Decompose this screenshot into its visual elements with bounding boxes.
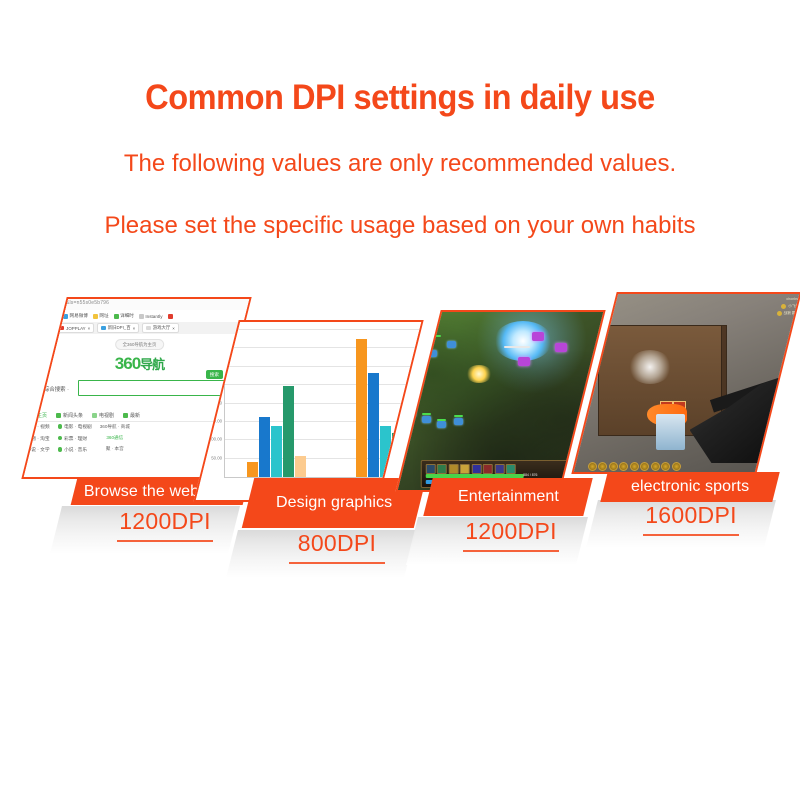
browser-url-text: hao.360.cn/?src=lm&ls=n55s0e5b796: [21, 300, 109, 306]
nav-tab[interactable]: 最新: [123, 412, 140, 419]
spell-effect-icon: [494, 321, 552, 361]
panel-design-frame: 400.00 350.00 300.00 250.00 200.00 150.0…: [193, 320, 423, 502]
fps-hud: 30/90: [588, 462, 800, 471]
fps-scene: chonbst 小飞侠 战狼 霸王 100: [571, 292, 800, 474]
bar: [283, 386, 294, 477]
weapon-slot-icon[interactable]: [651, 462, 660, 471]
fps-game-screenshot: chonbst 小飞侠 战狼 霸王 100: [571, 292, 800, 474]
link-item[interactable]: 小说 · 文学: [21, 447, 49, 453]
character-body: [656, 414, 685, 450]
site-logo: 360导航: [115, 354, 164, 374]
item-slot-icon: [425, 464, 435, 474]
item-slot-icon: [494, 464, 504, 474]
poster-root: Common DPI settings in daily use The fol…: [0, 0, 800, 800]
bookmark-item[interactable]: 网易微博: [63, 313, 88, 319]
weapon-slot-icon[interactable]: [630, 462, 639, 471]
nav-tab[interactable]: 新闻头条: [56, 412, 83, 419]
weapon-slot-icon[interactable]: [672, 462, 681, 471]
set-homepage-pill[interactable]: 全360导航为主页: [115, 339, 165, 350]
panel-esports-label[interactable]: electronic sports: [600, 472, 779, 502]
bookmark-item[interactable]: 网址: [93, 313, 109, 319]
panel-entertainment-label[interactable]: Entertainment: [423, 478, 592, 516]
link-item[interactable]: 电影 · 电视剧: [58, 424, 92, 430]
bar: [259, 417, 270, 477]
panel-design-dpi: 800DPI: [272, 530, 402, 564]
y-tick-label: 50.00: [211, 455, 222, 460]
weapon-slot-icon[interactable]: [609, 462, 618, 471]
kill-feed-row: chonbst: [698, 296, 800, 303]
promo-link[interactable]: 聚 · 本宫: [106, 446, 124, 452]
weapon-slot-icon[interactable]: [598, 462, 607, 471]
weapon-slot-icon[interactable]: [619, 462, 628, 471]
kill-feed-row: 小飞侠: [698, 303, 800, 310]
kill-feed-row: 战狼 霸王: [698, 310, 800, 317]
item-slot-icon: [483, 464, 493, 474]
bar: [271, 426, 282, 477]
link-item[interactable]: 彩票 · 理财: [58, 436, 92, 442]
weapon-slot-icon[interactable]: [588, 462, 597, 471]
bookmark-item[interactable]: 详细时: [114, 313, 134, 319]
link-item[interactable]: 新闻 · 视频: [21, 424, 49, 430]
bookmark-item[interactable]: 新闻: [21, 313, 32, 319]
panel-esports-frame: chonbst 小飞侠 战狼 霸王 100: [571, 292, 800, 474]
item-slot-icon: [460, 464, 470, 474]
bar: [380, 426, 391, 477]
search-label: 综合搜索 ·: [44, 385, 69, 393]
browser-tab[interactable]: 游戏大厅 ×: [142, 323, 179, 334]
panel-band: hao.360.cn/?src=lm&ls=n55s0e5b796 新闻 开心网…: [0, 0, 800, 800]
promo-column: 360导航 · 商城 360通信 聚 · 本宫: [100, 424, 130, 454]
item-slot-icon: [448, 464, 458, 474]
bookmark-overflow-icon[interactable]: [168, 314, 173, 319]
bar: [368, 373, 379, 477]
link-item[interactable]: 小说 · 音乐: [58, 447, 92, 453]
bar: [356, 339, 367, 477]
link-column: 新闻 · 视频 购物 · 淘宝 小说 · 文学: [21, 424, 49, 454]
bar: [247, 462, 258, 477]
bar: [295, 456, 306, 477]
weapon-slot-icon[interactable]: [640, 462, 649, 471]
nav-tab[interactable]: 我的主页: [21, 412, 47, 419]
promo-title: 360导航 · 商城: [100, 424, 130, 430]
link-item[interactable]: 购物 · 淘宝: [21, 436, 49, 442]
panel-browse[interactable]: hao.360.cn/?src=lm&ls=n55s0e5b796 新闻 开心网…: [44, 297, 229, 479]
panel-entertainment[interactable]: 100: [418, 310, 583, 492]
kill-feed: chonbst 小飞侠 战狼 霸王: [698, 296, 800, 316]
panel-browse-dpi: 1200DPI: [100, 508, 230, 542]
weapon-slot-icon[interactable]: [661, 462, 670, 471]
panel-entertainment-dpi: 1200DPI: [446, 518, 576, 552]
item-slot-icon: [506, 464, 516, 474]
panel-design-clip: 400.00 350.00 300.00 250.00 200.00 150.0…: [193, 320, 423, 502]
y-tick-label: 100.00: [209, 437, 222, 442]
explosion-icon: [466, 365, 492, 383]
link-column: 电影 · 电视剧 彩票 · 理财 小说 · 音乐: [58, 424, 92, 454]
bookmark-item[interactable]: 开心网: [38, 313, 58, 319]
chart-plot-area: 400.00 350.00 300.00 250.00 200.00 150.0…: [224, 330, 424, 478]
minion-group: [405, 386, 499, 433]
promo-link[interactable]: 360通信: [106, 435, 123, 441]
item-slot-icon: [437, 464, 447, 474]
item-slots[interactable]: [425, 464, 516, 474]
panel-design[interactable]: 400.00 350.00 300.00 250.00 200.00 150.0…: [216, 320, 401, 502]
browser-tab[interactable]: 新闻入门 ×: [21, 323, 52, 334]
panel-esports-dpi: 1600DPI: [626, 502, 756, 536]
bar-group: 项目一: [225, 330, 328, 477]
chart-bar-groups: 项目一 项目二: [225, 330, 424, 477]
browser-tab[interactable]: 新旧DPI_百 ×: [97, 323, 139, 334]
nav-tab[interactable]: 电视剧: [92, 412, 114, 419]
health-text: 584 / 876: [523, 473, 537, 477]
chart-screenshot: 400.00 350.00 300.00 250.00 200.00 150.0…: [193, 320, 423, 502]
panel-esports[interactable]: chonbst 小飞侠 战狼 霸王 100: [594, 292, 779, 474]
bar-chart: 400.00 350.00 300.00 250.00 200.00 150.0…: [193, 320, 423, 502]
item-slot-icon: [471, 464, 481, 474]
browser-url-bar: hao.360.cn/?src=lm&ls=n55s0e5b796: [21, 297, 251, 311]
bookmark-item[interactable]: Instantly: [139, 314, 163, 319]
ammo-counter: 30/90: [793, 464, 800, 469]
panel-esports-clip: chonbst 小飞侠 战狼 霸王 100: [571, 292, 800, 474]
browser-tab[interactable]: JOPPLAY ×: [56, 323, 95, 334]
